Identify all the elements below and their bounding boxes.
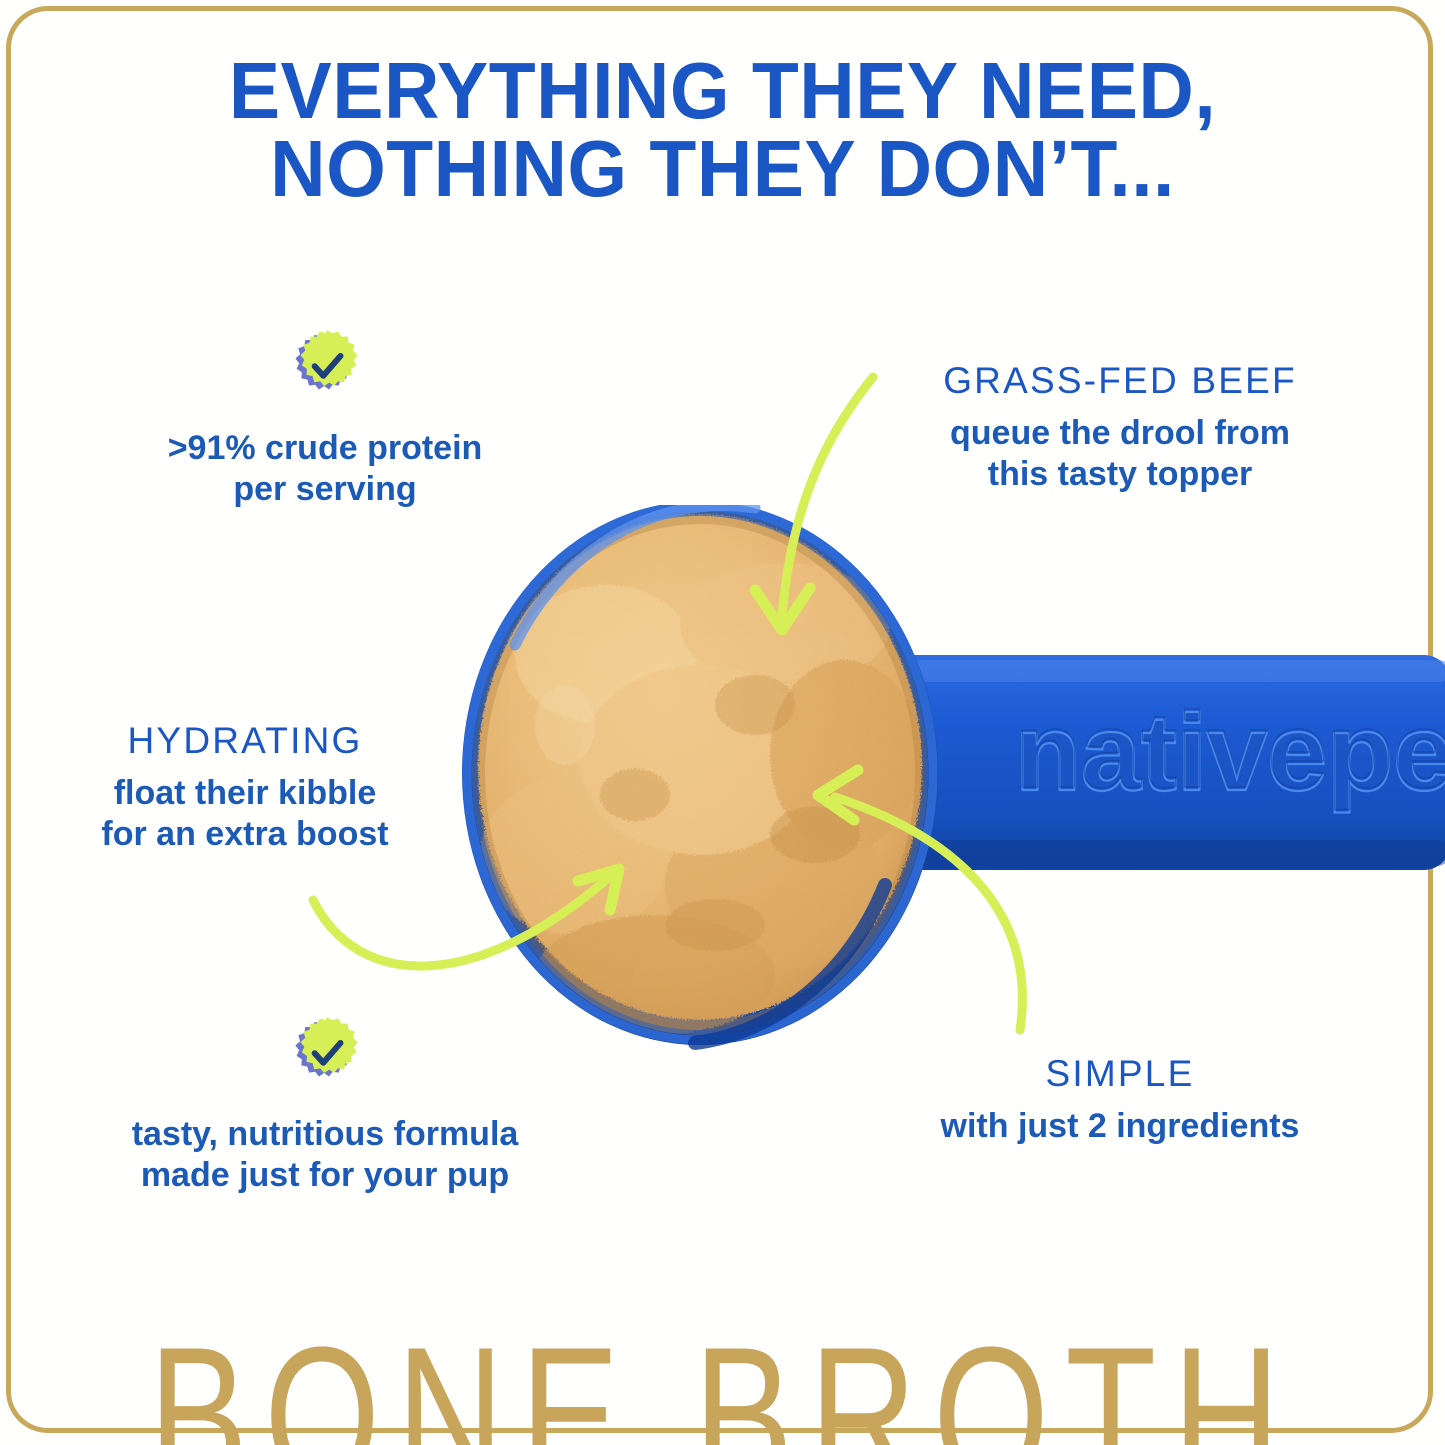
headline-line-1: EVERYTHING THEY NEED, xyxy=(29,52,1416,130)
feature-grass-fed-beef-body: queue the drool from this tasty topper xyxy=(840,413,1400,496)
scoop-handle: nativepe nativepe xyxy=(850,655,1445,870)
feature-hydrating-body: float their kibble for an extra boost xyxy=(0,773,525,856)
feature-crude-protein-body: >91% crude protein per serving xyxy=(45,428,605,511)
feature-simple-body: with just 2 ingredients xyxy=(840,1106,1400,1147)
feature-crude-protein: >91% crude protein per serving xyxy=(45,418,605,511)
feature-grass-fed-beef-title: GRASS-FED BEEF xyxy=(840,360,1400,403)
feature-simple: SIMPLE with just 2 ingredients xyxy=(840,1053,1400,1147)
feature-tasty-formula-body: tasty, nutritious formula made just for … xyxy=(45,1114,605,1197)
check-badge-icon xyxy=(282,325,368,411)
scoop-bowl xyxy=(455,505,955,1055)
product-name-footer: BONE BROTH xyxy=(0,1318,1445,1445)
check-badge-icon xyxy=(282,1012,368,1098)
feature-tasty-formula: tasty, nutritious formula made just for … xyxy=(45,1104,605,1197)
feature-grass-fed-beef: GRASS-FED BEEF queue the drool from this… xyxy=(840,360,1400,495)
svg-text:nativepe: nativepe xyxy=(1015,689,1445,810)
feature-hydrating: HYDRATING float their kibble for an extr… xyxy=(0,720,525,855)
product-photo-scoop: nativepe nativepe xyxy=(455,505,1445,1055)
feature-hydrating-title: HYDRATING xyxy=(0,720,525,763)
feature-simple-title: SIMPLE xyxy=(840,1053,1400,1096)
page-title: EVERYTHING THEY NEED, NOTHING THEY DON’T… xyxy=(29,52,1416,209)
headline-line-2: NOTHING THEY DON’T... xyxy=(29,130,1416,208)
infographic-canvas: EVERYTHING THEY NEED, NOTHING THEY DON’T… xyxy=(0,0,1445,1445)
